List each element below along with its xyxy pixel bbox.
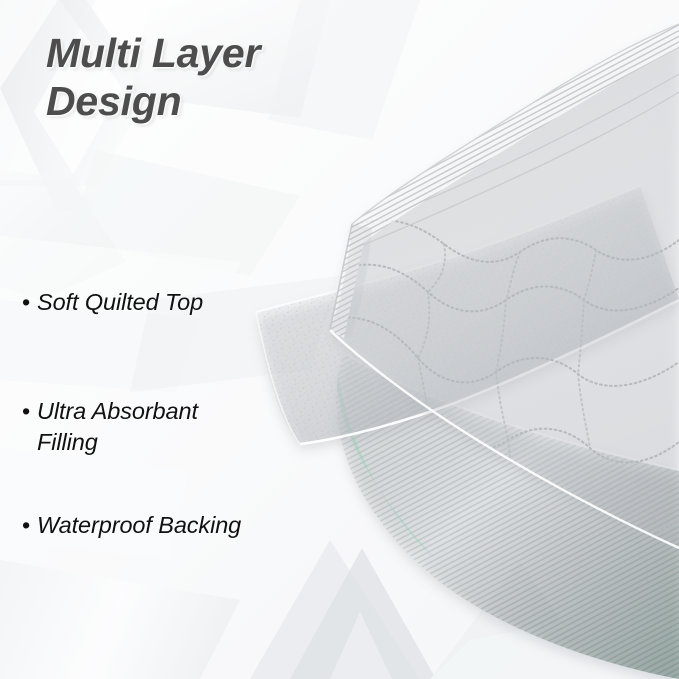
bullet-icon: • <box>22 396 37 427</box>
text-layer: Multi Layer Design • Soft Quilted Top • … <box>0 0 679 679</box>
feature-item-ultra-absorbant-filling: • Ultra Absorbant Filling <box>22 396 198 458</box>
bullet-icon: • <box>22 287 37 318</box>
bullet-icon: • <box>22 510 37 541</box>
page-title: Multi Layer Design <box>46 30 346 125</box>
feature-label: Soft Quilted Top <box>37 287 203 318</box>
feature-item-soft-quilted-top: • Soft Quilted Top <box>22 287 203 318</box>
feature-item-waterproof-backing: • Waterproof Backing <box>22 510 241 541</box>
product-feature-infographic: Multi Layer Design • Soft Quilted Top • … <box>0 0 679 679</box>
feature-label: Waterproof Backing <box>37 510 241 541</box>
feature-label: Ultra Absorbant Filling <box>37 396 198 458</box>
